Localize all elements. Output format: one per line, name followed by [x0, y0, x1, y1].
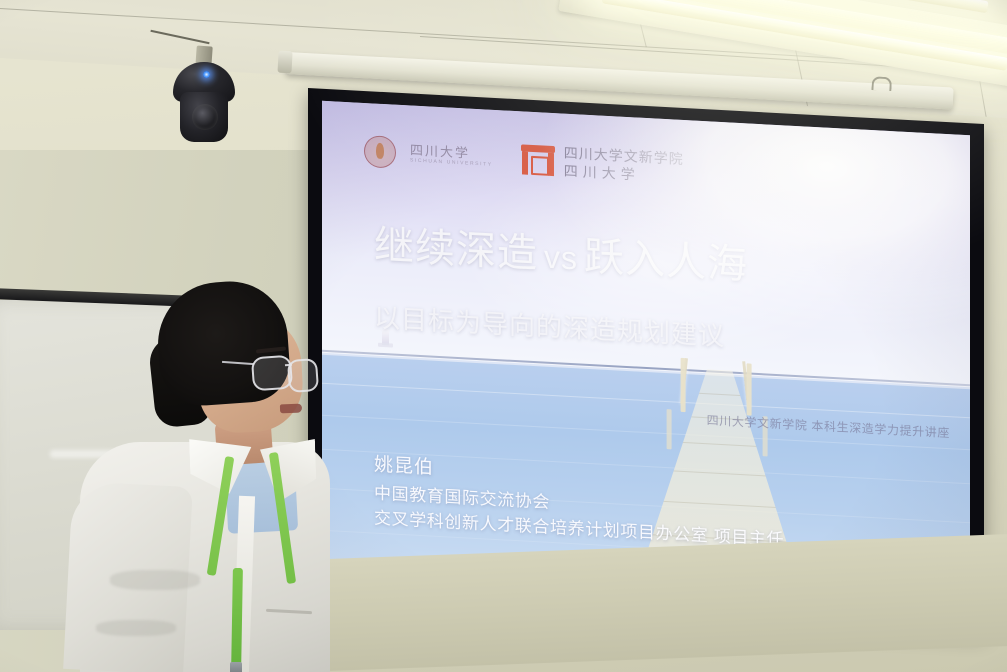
presenter	[40, 270, 340, 672]
lanyard-clip	[230, 662, 242, 672]
slide-title-right: 跃入人海	[584, 235, 748, 288]
slide-title-left: 继续深造	[374, 224, 538, 277]
camera-status-led	[203, 71, 210, 78]
lanyard-strap	[231, 568, 243, 672]
pier-post-right	[747, 363, 752, 415]
classroom-photo: 四川大学 SICHUAN UNIVERSITY 四川大学文新学院 四川大学	[0, 0, 1007, 672]
slide-title-vs: vs	[538, 238, 584, 276]
roller-end-cap	[277, 51, 292, 74]
sichuan-university-seal-icon	[364, 135, 396, 169]
pier-post-left	[681, 358, 686, 412]
gate-icon	[521, 145, 555, 177]
projection-screen-assembly: 四川大学 SICHUAN UNIVERSITY 四川大学文新学院 四川大学	[286, 52, 986, 592]
pier-post-mid-left	[667, 409, 672, 449]
camera-lens-icon	[192, 104, 218, 130]
eyeglasses-lens-right	[287, 358, 319, 393]
department-wordmark: 四川大学文新学院 四川大学	[564, 146, 684, 185]
presenter-mouth	[280, 404, 302, 414]
eyeglasses-lens-left	[251, 355, 293, 392]
screen-hook	[871, 76, 892, 91]
sichuan-university-wordmark: 四川大学 SICHUAN UNIVERSITY	[410, 144, 493, 168]
